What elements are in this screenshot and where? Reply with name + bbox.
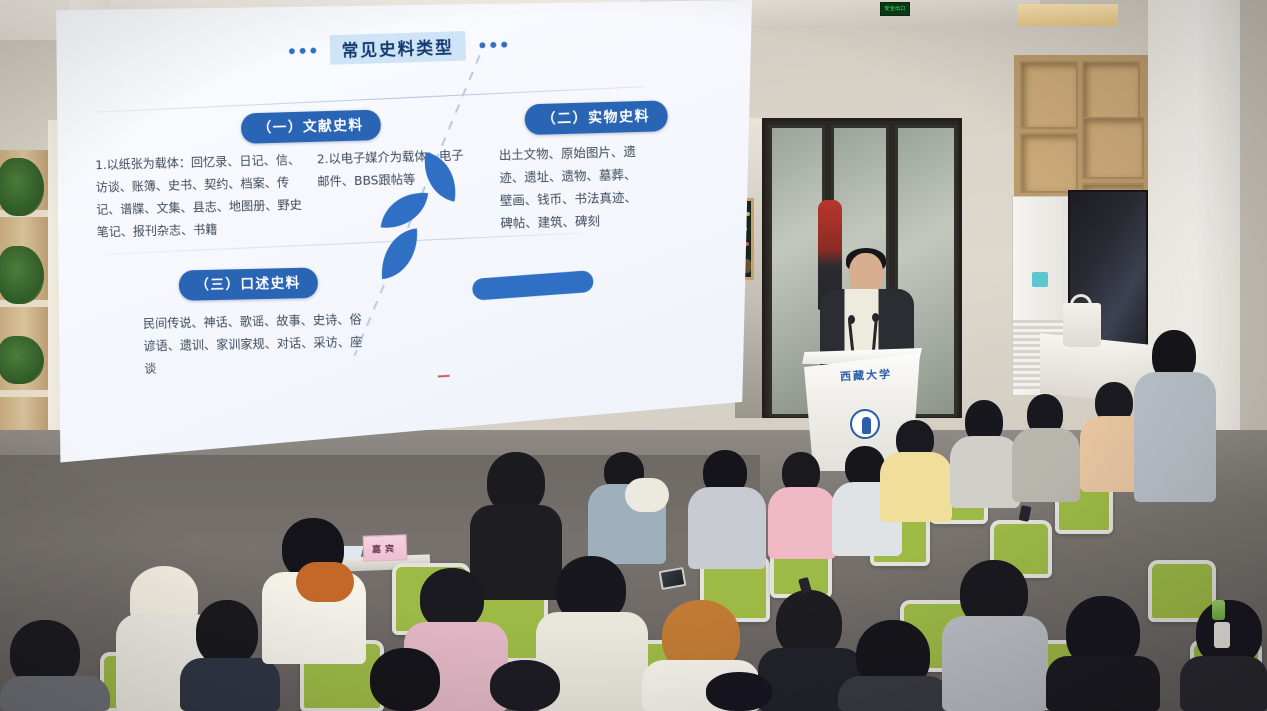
decor-red-mark xyxy=(438,375,450,378)
ac-badge-icon xyxy=(1032,272,1048,287)
decor-petal-icon xyxy=(381,188,429,232)
microphone-head-icon xyxy=(848,315,855,324)
section-pill-material: （二）实物史料 xyxy=(524,100,667,135)
guest-card-label: 嘉宾 xyxy=(372,541,398,555)
slide-title: 常见史料类型 xyxy=(330,31,466,65)
decor-dots-right-icon xyxy=(479,42,507,49)
section-pill-oral: （三）口述史料 xyxy=(179,267,318,300)
lecture-hall-scene: 安全出口 xyxy=(0,0,1267,711)
drink-cup xyxy=(1212,600,1225,620)
emergency-exit-sign: 安全出口 xyxy=(880,2,910,16)
material-sources-text: 出土文物、原始图片、遗迹、遗址、遗物、墓葬、壁画、钱币、书法真迹、碑帖、建筑、碑… xyxy=(499,140,641,235)
university-logo-icon xyxy=(850,409,880,439)
microphone-head-icon xyxy=(872,313,879,322)
decor-petal-icon xyxy=(378,228,422,279)
drink-cup xyxy=(1214,622,1230,648)
shelf-accent-light xyxy=(1018,4,1118,26)
tote-bag xyxy=(1063,303,1101,347)
documentary-paper-text: 1.以纸张为载体：回忆录、日记、信、访谈、账簿、史书、契约、档案、传记、谱牒、文… xyxy=(95,148,312,244)
slide-title-row: 常见史料类型 xyxy=(58,22,747,73)
shelf-plant-icon xyxy=(0,158,44,216)
shelf-plant-icon xyxy=(0,246,44,304)
presentation-slide: 常见史料类型 （一）文献史料 （二）实物史料 （三）口述史料 1.以纸张为载体：… xyxy=(57,0,756,471)
projection-screen: 常见史料类型 （一）文献史料 （二）实物史料 （三）口述史料 1.以纸张为载体：… xyxy=(52,0,752,470)
guest-place-card: 嘉宾 xyxy=(363,534,408,562)
decor-dots-left-icon xyxy=(289,48,316,55)
oral-sources-text: 民间传说、神话、歌谣、故事、史诗、俗谚语、遗训、家训家规、对话、采访、座谈 xyxy=(143,308,373,380)
shelf-plant-icon xyxy=(0,336,44,384)
decor-bar xyxy=(472,270,595,301)
exit-sign-label: 安全出口 xyxy=(884,7,905,12)
far-right-wall xyxy=(1240,0,1267,470)
section-pill-documentary: （一）文献史料 xyxy=(241,110,381,144)
